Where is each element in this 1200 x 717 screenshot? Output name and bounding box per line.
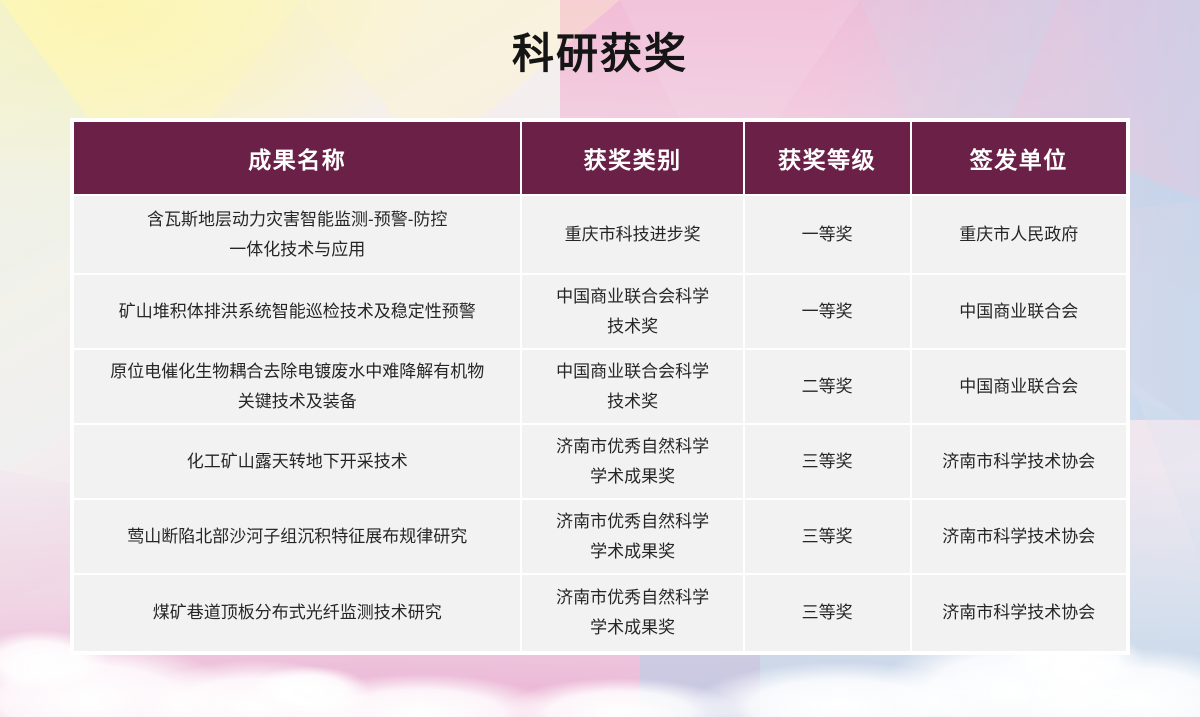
cell-achievement-name: 莺山断陷北部沙河子组沉积特征展布规律研究 xyxy=(74,500,520,573)
cell-award-category: 济南市优秀自然科学学术成果奖 xyxy=(522,425,742,498)
table-row: 莺山断陷北部沙河子组沉积特征展布规律研究 济南市优秀自然科学学术成果奖 三等奖 … xyxy=(74,500,1126,573)
column-header-achievement-name: 成果名称 xyxy=(74,122,520,194)
cell-award-category: 中国商业联合会科学技术奖 xyxy=(522,350,742,423)
column-header-issuing-unit: 签发单位 xyxy=(912,122,1126,194)
cell-award-grade: 二等奖 xyxy=(745,350,910,423)
cell-award-grade: 三等奖 xyxy=(745,500,910,573)
page-title: 科研获奖 xyxy=(0,27,1200,81)
column-header-award-category: 获奖类别 xyxy=(522,122,742,194)
cell-achievement-name: 化工矿山露天转地下开采技术 xyxy=(74,425,520,498)
cell-issuing-unit: 中国商业联合会 xyxy=(912,350,1126,423)
table-row: 煤矿巷道顶板分布式光纤监测技术研究 济南市优秀自然科学学术成果奖 三等奖 济南市… xyxy=(74,575,1126,651)
cell-award-grade: 一等奖 xyxy=(745,275,910,348)
column-header-award-grade: 获奖等级 xyxy=(745,122,910,194)
cell-issuing-unit: 济南市科学技术协会 xyxy=(912,500,1126,573)
cell-award-category: 济南市优秀自然科学学术成果奖 xyxy=(522,500,742,573)
table-header-row: 成果名称 获奖类别 获奖等级 签发单位 xyxy=(74,122,1126,194)
cell-issuing-unit: 中国商业联合会 xyxy=(912,275,1126,348)
cell-issuing-unit: 重庆市人民政府 xyxy=(912,196,1126,273)
cell-achievement-name: 煤矿巷道顶板分布式光纤监测技术研究 xyxy=(74,575,520,651)
cell-award-category: 济南市优秀自然科学学术成果奖 xyxy=(522,575,742,651)
cell-achievement-name: 含瓦斯地层动力灾害智能监测-预警-防控一体化技术与应用 xyxy=(74,196,520,273)
cell-award-category: 重庆市科技进步奖 xyxy=(522,196,742,273)
cell-award-grade: 三等奖 xyxy=(745,575,910,651)
research-awards-table: 成果名称 获奖类别 获奖等级 签发单位 含瓦斯地层动力灾害智能监测-预警-防控一… xyxy=(72,120,1128,653)
table-row: 含瓦斯地层动力灾害智能监测-预警-防控一体化技术与应用 重庆市科技进步奖 一等奖… xyxy=(74,196,1126,273)
cell-achievement-name: 原位电催化生物耦合去除电镀废水中难降解有机物关键技术及装备 xyxy=(74,350,520,423)
cell-issuing-unit: 济南市科学技术协会 xyxy=(912,425,1126,498)
cell-award-grade: 三等奖 xyxy=(745,425,910,498)
cell-issuing-unit: 济南市科学技术协会 xyxy=(912,575,1126,651)
table-row: 原位电催化生物耦合去除电镀废水中难降解有机物关键技术及装备 中国商业联合会科学技… xyxy=(74,350,1126,423)
cell-award-category: 中国商业联合会科学技术奖 xyxy=(522,275,742,348)
cell-achievement-name: 矿山堆积体排洪系统智能巡检技术及稳定性预警 xyxy=(74,275,520,348)
cell-award-grade: 一等奖 xyxy=(745,196,910,273)
table-row: 矿山堆积体排洪系统智能巡检技术及稳定性预警 中国商业联合会科学技术奖 一等奖 中… xyxy=(74,275,1126,348)
table-row: 化工矿山露天转地下开采技术 济南市优秀自然科学学术成果奖 三等奖 济南市科学技术… xyxy=(74,425,1126,498)
table-body: 含瓦斯地层动力灾害智能监测-预警-防控一体化技术与应用 重庆市科技进步奖 一等奖… xyxy=(74,196,1126,651)
table-header: 成果名称 获奖类别 获奖等级 签发单位 xyxy=(74,122,1126,194)
